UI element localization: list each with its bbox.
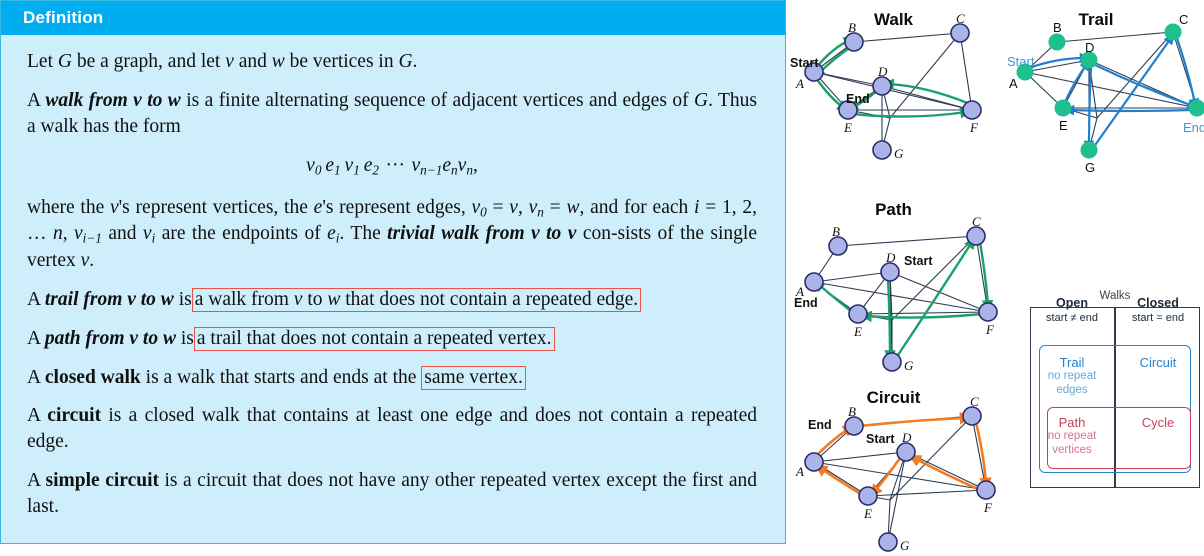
path-vertex-label-e: E bbox=[854, 324, 862, 340]
walk-vertex-label-g: G bbox=[894, 146, 903, 162]
circuit-vertex-label-b: B bbox=[848, 404, 856, 420]
trail-end-label: End bbox=[1183, 120, 1204, 135]
walks-column-header-open: Open start ≠ end bbox=[1030, 296, 1114, 324]
circuit-cell-label: Circuit bbox=[1116, 355, 1200, 370]
walks-cell-trail: Trail no repeat edges bbox=[1030, 355, 1114, 397]
walk-start-label: Start bbox=[790, 56, 818, 70]
walks-cell-path: Path no repeat vertices bbox=[1030, 415, 1114, 457]
trail-vertex-label-a: A bbox=[1009, 76, 1018, 91]
closed-subtitle: start = end bbox=[1116, 312, 1200, 324]
closed-title: Closed bbox=[1116, 296, 1200, 310]
trail-vertex-label-c: C bbox=[1179, 12, 1188, 27]
walk-vertex-label-c: C bbox=[956, 11, 965, 27]
circuit-vertex-label-f: F bbox=[984, 500, 992, 516]
walk-graph-svg bbox=[786, 0, 1001, 200]
closed-walk-highlight-box: same vertex. bbox=[421, 366, 526, 390]
path-cell-sub1: no repeat bbox=[1030, 430, 1114, 444]
walk-vertex-label-b: B bbox=[848, 20, 856, 36]
circuit-vertex-label-g: G bbox=[900, 538, 909, 554]
walk-vertex-label-a: A bbox=[796, 76, 804, 92]
circuit-vertex-label-e: E bbox=[864, 506, 872, 522]
circuit-vertex-label-c: C bbox=[970, 394, 979, 410]
path-graph-svg bbox=[786, 192, 1001, 388]
circuit-vertex-label-d: D bbox=[902, 430, 911, 446]
definition-body: Let G be a graph, and let v and w be ver… bbox=[1, 35, 785, 520]
trail-graph-svg bbox=[1001, 0, 1204, 200]
walk-diagram: Walk bbox=[786, 0, 1001, 200]
circuit-start-label: Start bbox=[866, 432, 894, 446]
cycle-cell-label: Cycle bbox=[1116, 415, 1200, 430]
path-vertex-label-b: B bbox=[832, 224, 840, 240]
open-title: Open bbox=[1030, 296, 1114, 310]
definition-paragraph-circuit: A circuit is a closed walk that contains… bbox=[27, 403, 757, 455]
walk-formula: v0 e1 v1 e2 ··· vn−1envn, bbox=[27, 153, 757, 179]
definition-title: Definition bbox=[1, 8, 103, 28]
circuit-diagram: Circuit bbox=[786, 380, 1001, 556]
walks-cell-cycle: Cycle bbox=[1116, 415, 1200, 430]
walks-cell-circuit: Circuit bbox=[1116, 355, 1200, 370]
walk-end-label: End bbox=[846, 92, 870, 106]
path-end-label: End bbox=[794, 296, 818, 310]
definition-paragraph-3: where the v's represent vertices, the e'… bbox=[27, 195, 757, 274]
circuit-graph-svg bbox=[786, 380, 1001, 556]
path-diagram: Path bbox=[786, 192, 1001, 388]
walk-vertex-label-e: E bbox=[844, 120, 852, 136]
definition-paragraph-simple-circuit: A simple circuit is a circuit that does … bbox=[27, 468, 757, 520]
open-subtitle: start ≠ end bbox=[1030, 312, 1114, 324]
path-cell-sub2: vertices bbox=[1030, 444, 1114, 458]
path-start-label: Start bbox=[904, 254, 932, 268]
definition-paragraph-closed-walk: A closed walk is a walk that starts and … bbox=[27, 365, 757, 391]
path-cell-label: Path bbox=[1030, 415, 1114, 430]
definition-header: Definition bbox=[1, 1, 785, 35]
trail-vertex-label-d: D bbox=[1085, 40, 1094, 55]
trail-highlight-box: a walk from v to w that does not contain… bbox=[192, 288, 641, 312]
trail-vertex-label-e: E bbox=[1059, 118, 1068, 133]
path-highlight-box: a trail that does not contain a repeated… bbox=[194, 327, 555, 351]
trail-vertex-label-b: B bbox=[1053, 20, 1062, 35]
trail-start-label: Start bbox=[1007, 54, 1034, 69]
trail-cell-sub1: no repeat bbox=[1030, 370, 1114, 384]
path-vertex-label-g: G bbox=[904, 358, 913, 374]
circuit-vertex-label-a: A bbox=[796, 464, 804, 480]
path-vertex-label-d: D bbox=[886, 250, 895, 266]
circuit-end-label: End bbox=[808, 418, 832, 432]
trail-cell-sub2: edges bbox=[1030, 384, 1114, 398]
path-vertex-label-f: F bbox=[986, 322, 994, 338]
definition-paragraph-path: A path from v to w isa trail that does n… bbox=[27, 326, 757, 352]
trail-diagram: Trail bbox=[1001, 0, 1204, 200]
walk-vertex-label-d: D bbox=[878, 64, 887, 80]
trail-vertex-label-g: G bbox=[1085, 160, 1095, 175]
path-vertex-label-c: C bbox=[972, 214, 981, 230]
trail-cell-label: Trail bbox=[1030, 355, 1114, 370]
definition-paragraph-1: Let G be a graph, and let v and w be ver… bbox=[27, 49, 757, 75]
walk-vertex-label-f: F bbox=[970, 120, 978, 136]
walks-classification-table: Walks Open start ≠ end Closed start = en… bbox=[1030, 290, 1200, 488]
definition-paragraph-2: A walk from v to w is a finite alternati… bbox=[27, 88, 757, 140]
walks-column-header-closed: Closed start = end bbox=[1116, 296, 1200, 324]
definition-paragraph-trail: A trail from v to w isa walk from v to w… bbox=[27, 287, 757, 313]
definition-panel: Definition Let G be a graph, and let v a… bbox=[0, 0, 786, 544]
